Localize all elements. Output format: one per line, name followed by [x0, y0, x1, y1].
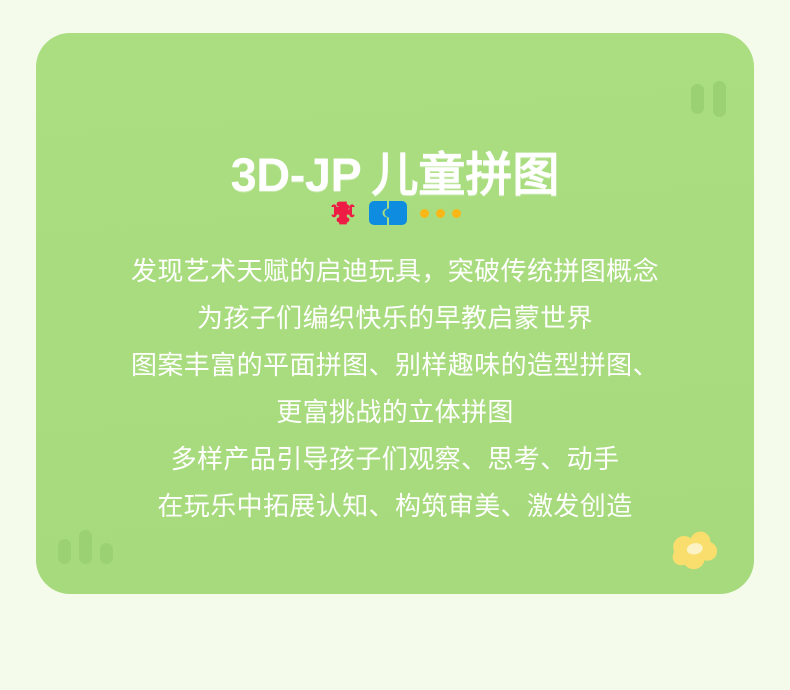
dot	[452, 209, 461, 218]
dots-ornament-icon	[420, 209, 461, 218]
dot	[420, 209, 429, 218]
quote-bar	[58, 539, 71, 564]
puzzle-piece-blue-icon	[369, 201, 407, 225]
description-line: 更富挑战的立体拼图	[66, 389, 724, 436]
description-line: 在玩乐中拓展认知、构筑审美、激发创造	[66, 483, 724, 530]
quote-bar	[691, 84, 704, 114]
promo-banner: 3D-JP儿童拼图 发现艺术天赋的启迪玩具	[0, 0, 790, 690]
quote-marks-top-right-icon	[691, 81, 726, 117]
description-line: 发现艺术天赋的启迪玩具，突破传统拼图概念	[66, 248, 724, 295]
ornament-row	[36, 198, 754, 228]
puzzle-piece-red-icon	[330, 200, 356, 226]
description-block: 发现艺术天赋的启迪玩具，突破传统拼图概念 为孩子们编织快乐的早教启蒙世界 图案丰…	[66, 248, 724, 530]
quote-bar	[79, 530, 92, 564]
dot	[436, 209, 445, 218]
flower-icon	[668, 530, 720, 570]
description-line: 为孩子们编织快乐的早教启蒙世界	[66, 295, 724, 342]
quote-marks-bottom-left-icon	[58, 530, 113, 564]
description-line: 多样产品引导孩子们观察、思考、动手	[66, 436, 724, 483]
description-line: 图案丰富的平面拼图、别样趣味的造型拼图、	[66, 342, 724, 389]
title-cjk: 儿童拼图	[371, 148, 559, 201]
hero-card: 3D-JP儿童拼图 发现艺术天赋的启迪玩具	[36, 33, 754, 594]
quote-bar	[100, 543, 113, 564]
title-latin: 3D-JP	[231, 148, 362, 201]
quote-bar	[713, 81, 726, 117]
